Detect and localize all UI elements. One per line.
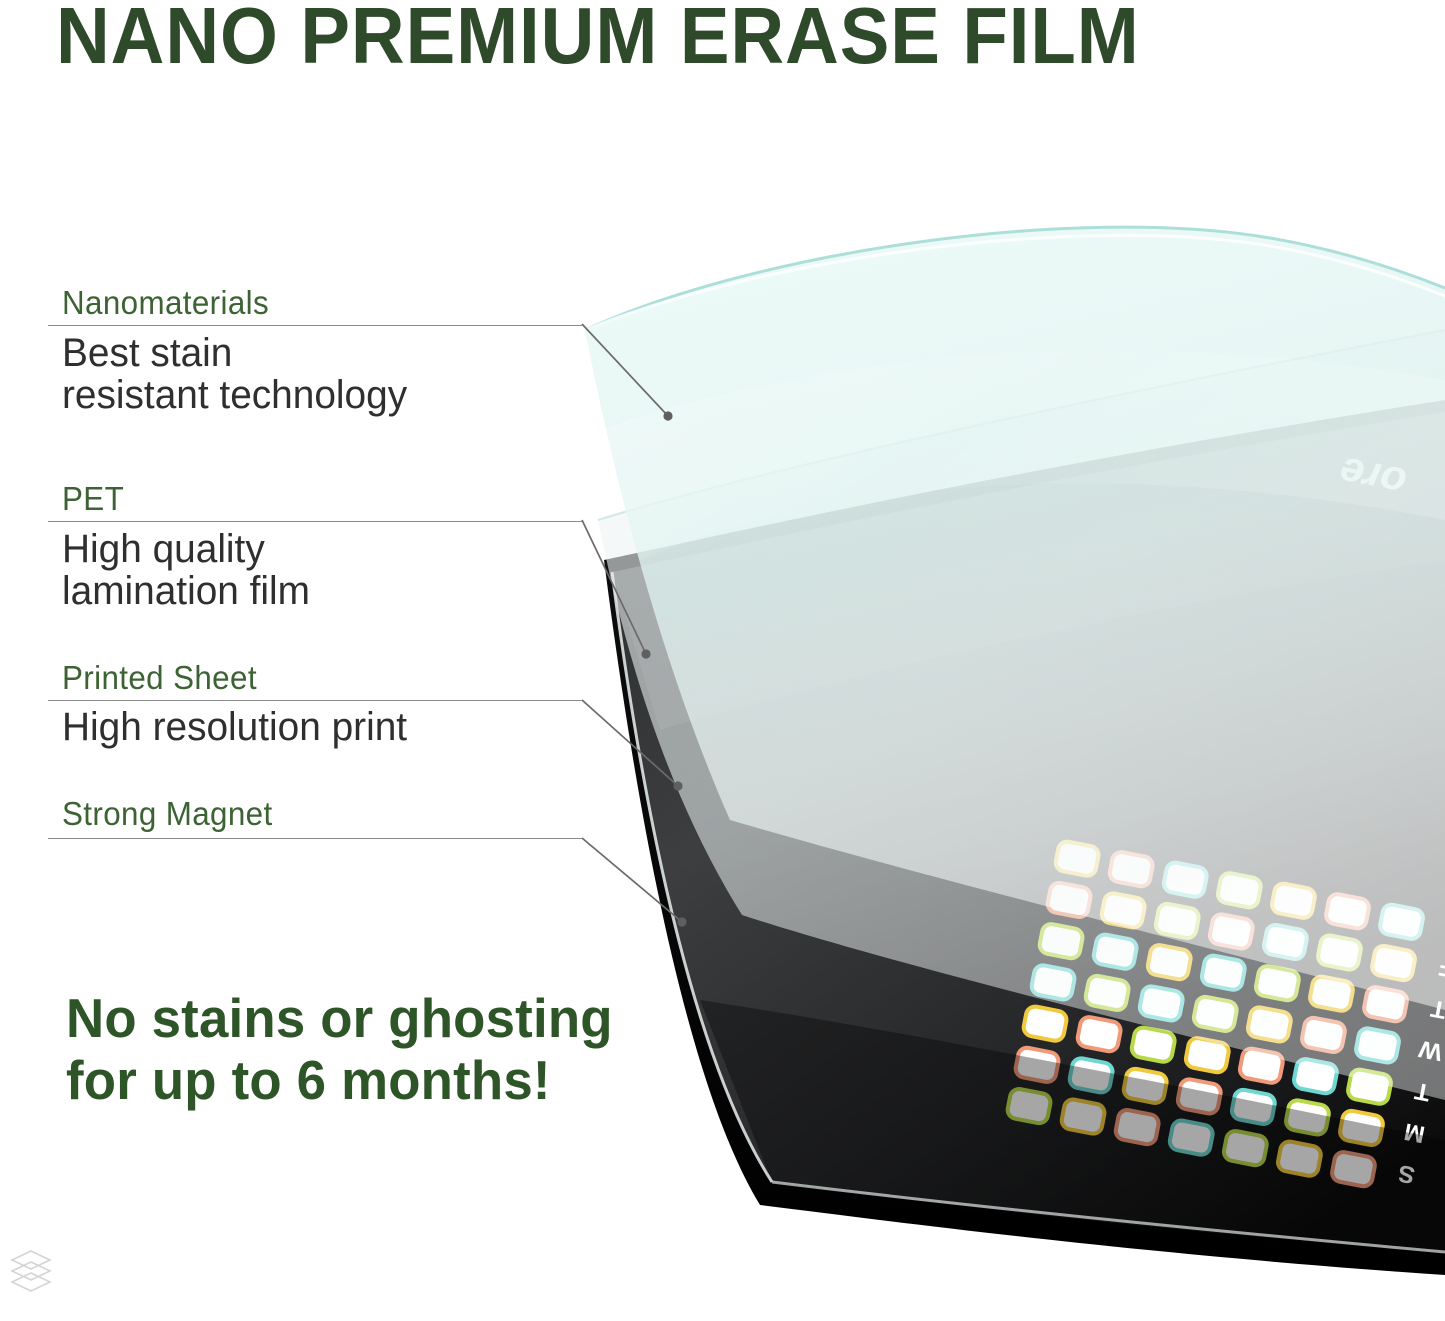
page-title: NANO PREMIUM ERASE FILM xyxy=(56,0,1140,78)
svg-text:F: F xyxy=(1437,953,1445,982)
svg-text:T: T xyxy=(1413,1077,1433,1106)
nano-film-layer xyxy=(585,227,1445,1010)
callout-pet: PET xyxy=(62,482,582,517)
svg-text:W: W xyxy=(1417,1035,1445,1066)
connector-strong-magnet xyxy=(582,838,682,922)
callout-printed-sheet-description: High resolution print xyxy=(62,706,605,748)
magnet-layer xyxy=(604,400,1445,1275)
callout-pet-rule xyxy=(48,521,582,522)
connector-dot-printed-sheet xyxy=(673,781,682,790)
callout-printed-sheet-desc-wrap: High resolution print xyxy=(62,706,622,748)
svg-text:M: M xyxy=(1402,1118,1427,1148)
callout-nanomaterials-desc-wrap: Best stain resistant technology xyxy=(62,332,622,417)
connector-dot-nanomaterials xyxy=(663,411,672,420)
callout-strong-magnet-title: Strong Magnet xyxy=(62,797,556,832)
callout-pet-description: High quality lamination film xyxy=(62,528,605,613)
svg-text:T: T xyxy=(1429,994,1445,1023)
svg-text:S: S xyxy=(1396,1159,1417,1188)
callout-nanomaterials-title: Nanomaterials xyxy=(62,286,556,321)
callout-nanomaterials-rule xyxy=(48,325,582,326)
callout-nanomaterials: Nanomaterials xyxy=(62,286,582,321)
connector-dot-strong-magnet xyxy=(677,917,686,926)
callout-nanomaterials-description: Best stain resistant technology xyxy=(62,332,605,417)
infographic-canvas: S M T W T F S xyxy=(0,0,1445,1321)
callout-strong-magnet: Strong Magnet xyxy=(62,797,582,832)
printed-sheet-layer: S M T W T F S xyxy=(612,135,1445,1321)
callout-printed-sheet-rule xyxy=(48,700,582,701)
pet-lamination-layer xyxy=(598,330,1445,1100)
callout-printed-sheet-title: Printed Sheet xyxy=(62,661,556,696)
claim-text: No stains or ghosting for up to 6 months… xyxy=(66,988,613,1111)
connector-dot-pet xyxy=(641,649,650,658)
callout-printed-sheet: Printed Sheet xyxy=(62,661,582,696)
callout-pet-desc-wrap: High quality lamination film xyxy=(62,528,622,613)
callout-pet-title: PET xyxy=(62,482,556,517)
callout-strong-magnet-rule xyxy=(48,838,582,839)
stacked-layers-icon xyxy=(8,1248,54,1298)
svg-text:ore: ore xyxy=(1336,448,1410,506)
